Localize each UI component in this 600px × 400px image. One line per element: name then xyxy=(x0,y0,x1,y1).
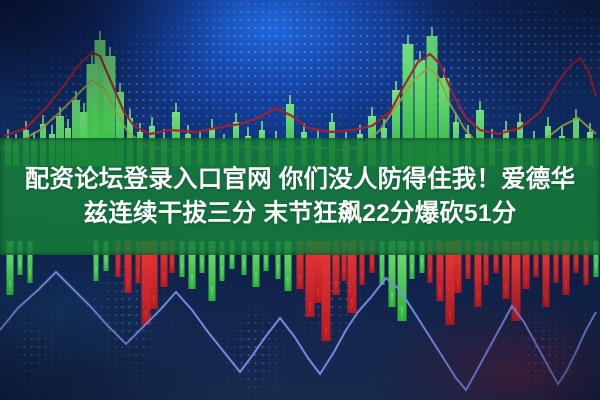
banner-image: 配资论坛登录入口官网 你们没人防得住我！爱德华 兹连续干拔三分 末节狂飙22分爆… xyxy=(0,0,600,400)
headline-line-2: 兹连续干拔三分 末节狂飙22分爆砍51分 xyxy=(84,198,517,230)
headline-block: 配资论坛登录入口官网 你们没人防得住我！爱德华 兹连续干拔三分 末节狂飙22分爆… xyxy=(0,138,600,255)
headline-line-1: 配资论坛登录入口官网 你们没人防得住我！爱德华 xyxy=(25,164,575,196)
